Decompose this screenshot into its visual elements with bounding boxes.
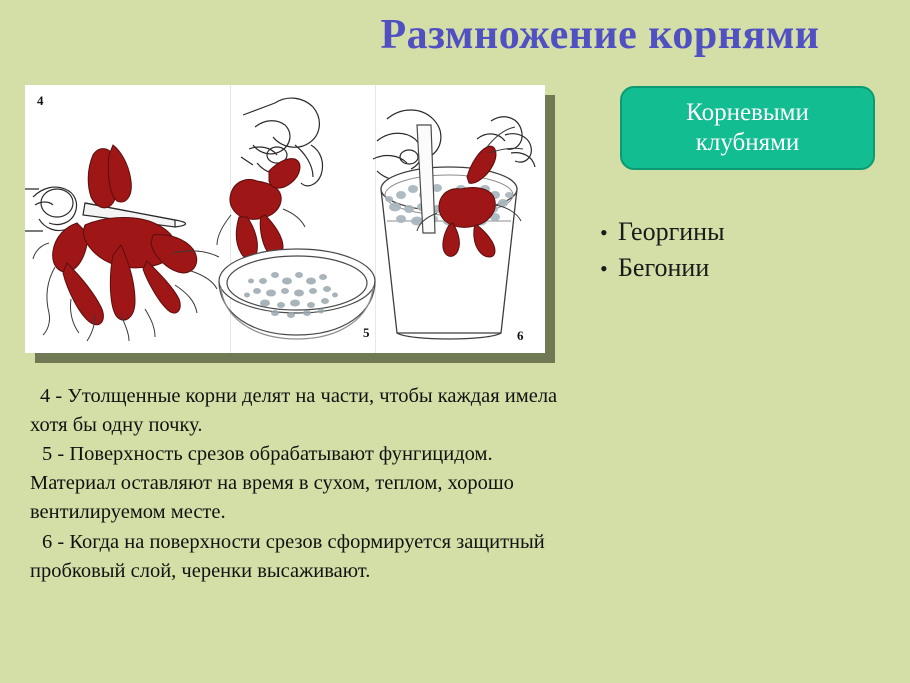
callout-line-2: клубнями [696, 128, 800, 159]
panel-label-4: 4 [37, 93, 44, 109]
bullet-icon: • [600, 222, 618, 244]
list-item: • Бегонии [600, 250, 890, 286]
body-paragraph-6: 6 - Когда на поверхности срезов сформиру… [30, 528, 560, 586]
plant-list: • Георгины • Бегонии [600, 214, 890, 286]
panel-label-6: 6 [517, 328, 524, 344]
botanical-line-art [25, 85, 545, 353]
list-item-label: Георгины [618, 214, 725, 250]
body-paragraph-5: 5 - Поверхность срезов обрабатывают фунг… [30, 440, 560, 527]
bullet-icon: • [600, 258, 618, 280]
list-item-label: Бегонии [618, 250, 709, 286]
body-text-block: 4 - Утолщенные корни делят на части, что… [30, 382, 560, 586]
list-item: • Георгины [600, 214, 890, 250]
callout-line-1: Корневыми [686, 98, 809, 129]
callout-box-root-tubers: Корневыми клубнями [620, 86, 875, 170]
illustration-figure: 4 5 6 [25, 85, 545, 353]
body-paragraph-4: 4 - Утолщенные корни делят на части, что… [30, 382, 560, 440]
panel-label-5: 5 [363, 325, 370, 341]
page-title: Размножение корнями [300, 12, 900, 58]
figure-canvas: 4 5 6 [25, 85, 545, 353]
